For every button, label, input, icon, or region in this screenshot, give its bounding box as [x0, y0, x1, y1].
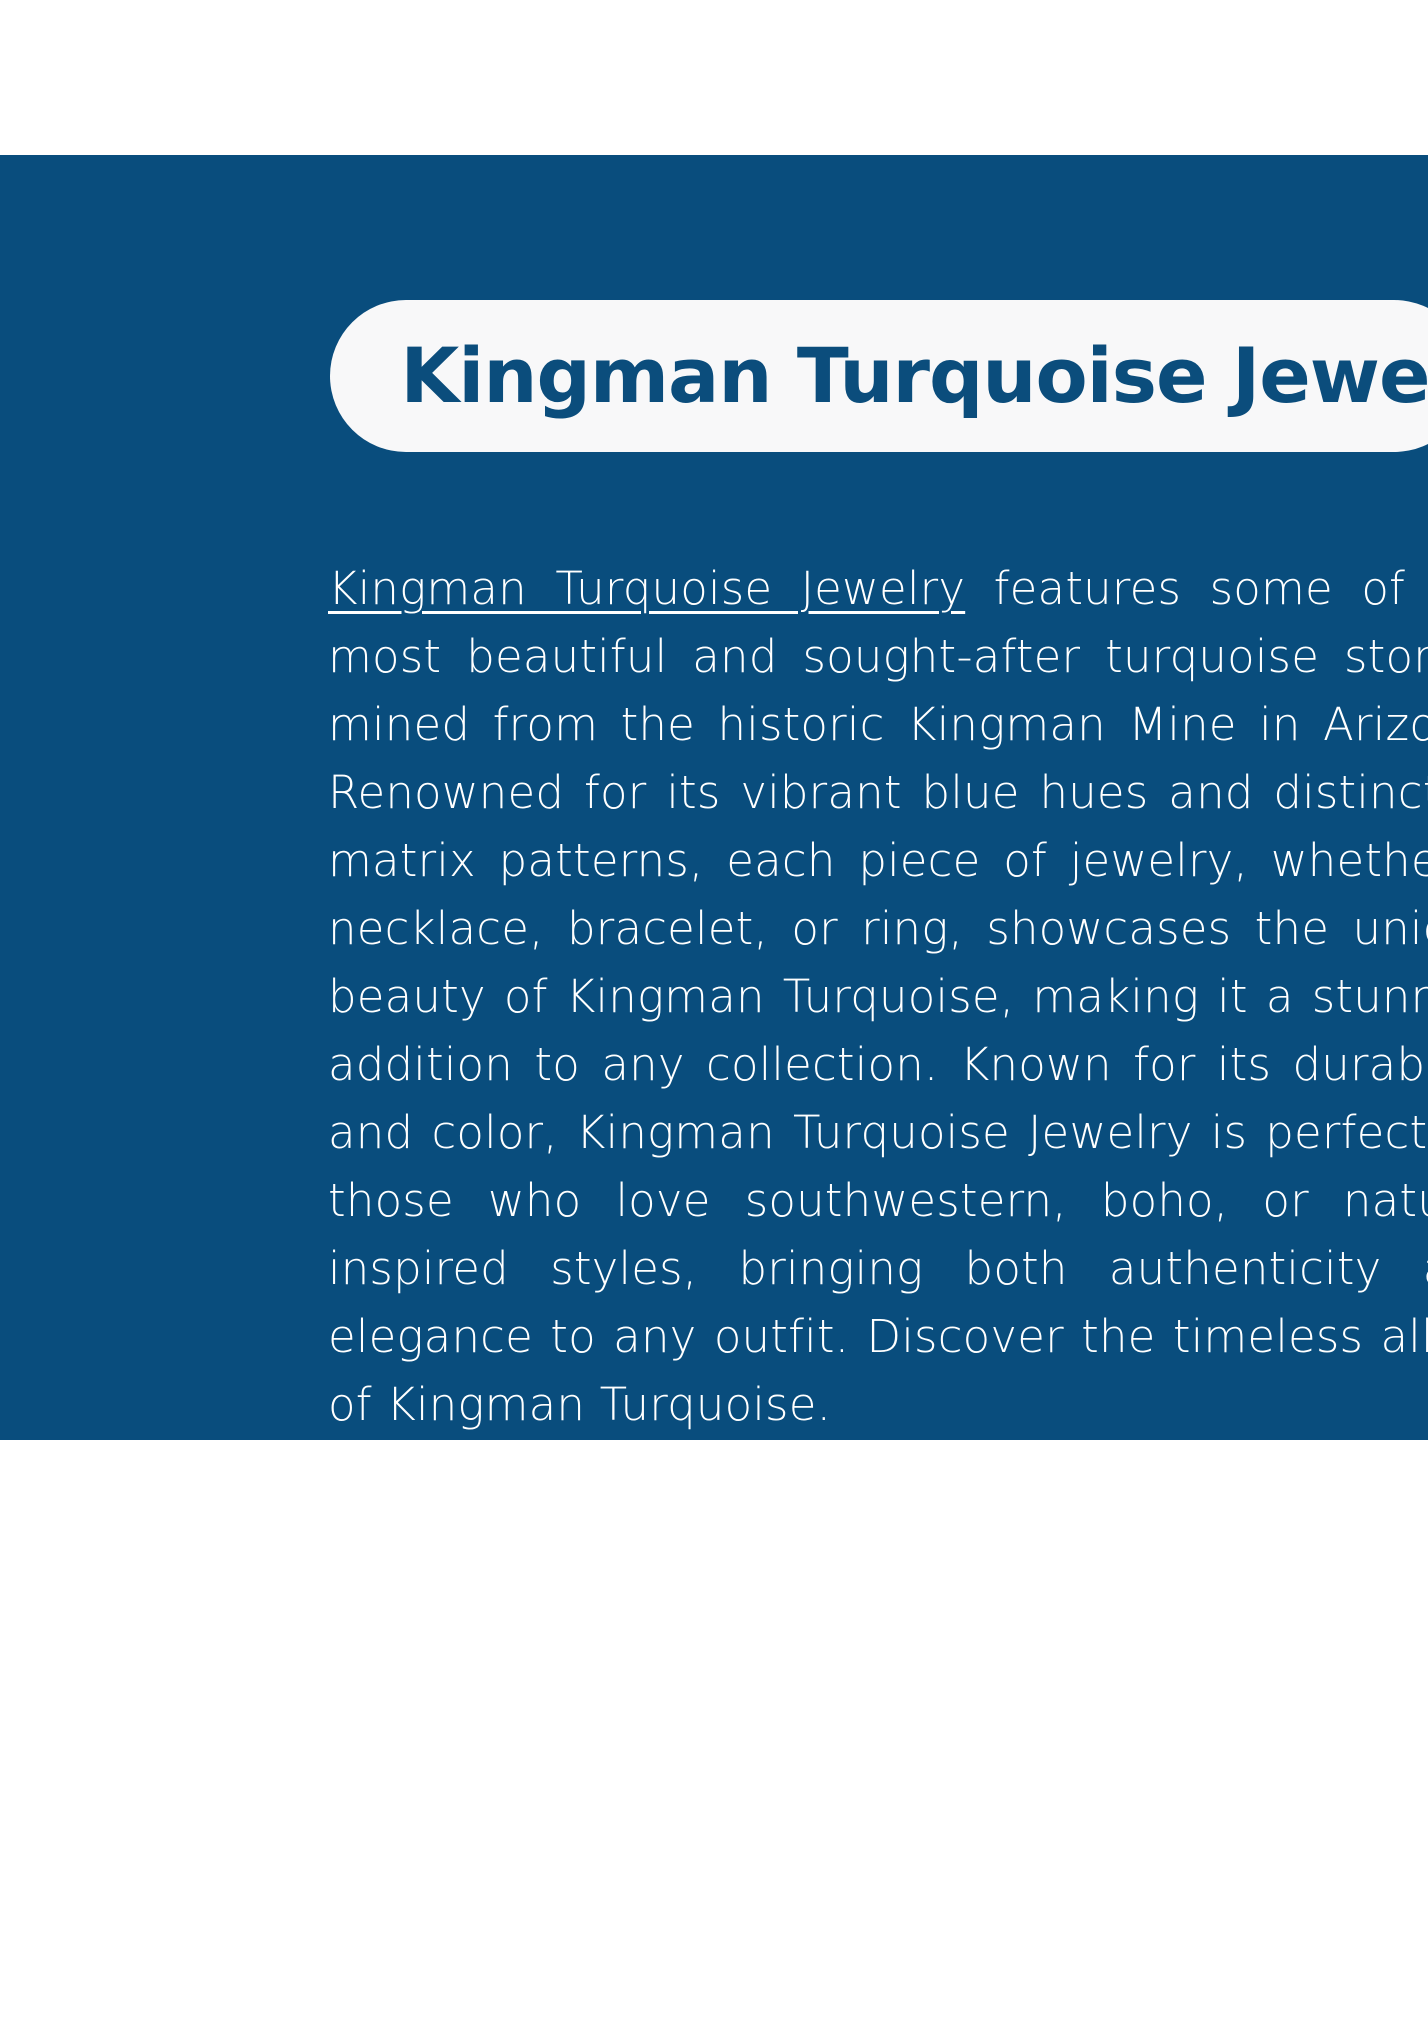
page-canvas: Kingman Turquoise Jewelry Kingman Turquo…: [0, 0, 1428, 2018]
article-body-text: features some of the most beautiful and …: [328, 562, 1428, 1431]
article-title-pill: Kingman Turquoise Jewelry: [330, 300, 1428, 452]
article-body: Kingman Turquoise Jewelry features some …: [328, 555, 1428, 1439]
kingman-turquoise-jewelry-link[interactable]: Kingman Turquoise Jewelry: [328, 562, 965, 615]
article-panel: Kingman Turquoise Jewelry Kingman Turquo…: [0, 155, 1428, 1440]
page-title: Kingman Turquoise Jewelry: [400, 338, 1428, 414]
